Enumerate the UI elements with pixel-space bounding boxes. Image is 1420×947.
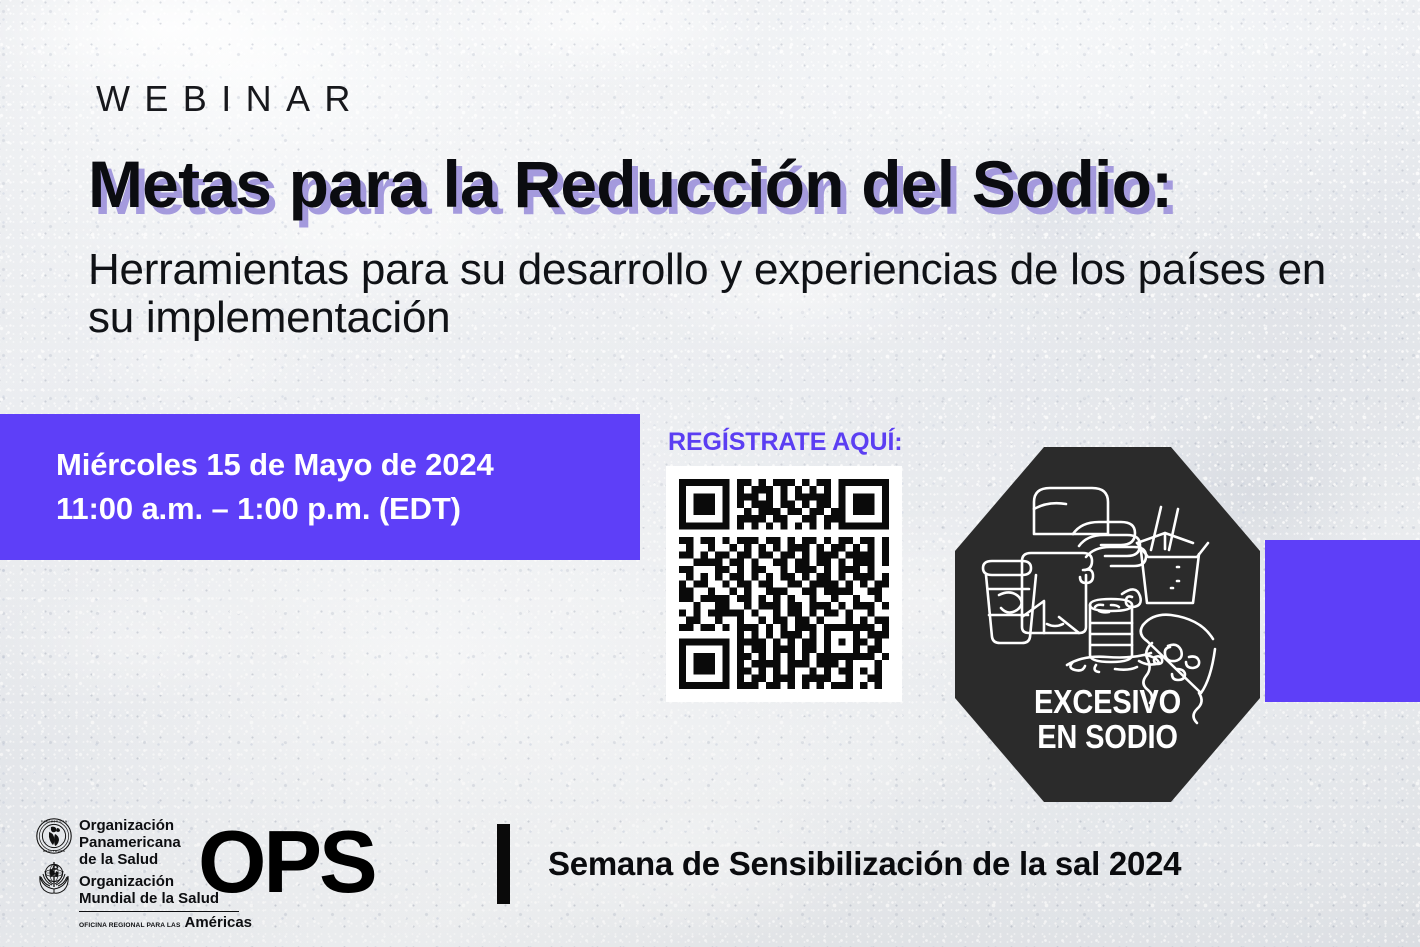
region-name: Américas xyxy=(184,914,252,931)
footer-divider-bar xyxy=(497,824,510,904)
who-emblem-icon xyxy=(36,858,72,894)
page-title: Metas para la Reducción del Sodio: xyxy=(88,146,1172,222)
date-time-banner: Miércoles 15 de Mayo de 2024 11:00 a.m. … xyxy=(0,414,640,560)
footer-tagline: Semana de Sensibilización de la sal 2024 xyxy=(548,845,1181,883)
webinar-date: Miércoles 15 de Mayo de 2024 xyxy=(56,443,640,487)
svg-text:P A N A M E R I C A N: P A N A M E R I C A N xyxy=(41,820,67,824)
kicker-webinar: WEBINAR xyxy=(96,78,365,120)
paho-seal-icon: P A N A M E R I C A N H E A L T H O R G xyxy=(36,818,72,854)
webinar-time: 11:00 a.m. – 1:00 p.m. (EDT) xyxy=(56,487,640,531)
ops-acronym: OPS xyxy=(198,818,375,906)
registration-qr-code[interactable] xyxy=(666,466,902,702)
purple-accent-block xyxy=(1265,540,1420,702)
warning-line-1: EXCESIVO xyxy=(973,685,1241,720)
register-here-label: REGÍSTRATE AQUÍ: xyxy=(668,428,903,457)
warning-line-2: EN SODIO xyxy=(973,720,1241,755)
logo-emblems: P A N A M E R I C A N H E A L T H O R G xyxy=(36,818,72,894)
svg-text:H E A L T H O R G: H E A L T H O R G xyxy=(43,849,65,853)
page-subtitle: Herramientas para su desarrollo y experi… xyxy=(88,246,1328,343)
warning-label-text: EXCESIVO EN SODIO xyxy=(973,685,1241,755)
warning-label-octagon: EXCESIVO EN SODIO xyxy=(955,447,1260,802)
qr-code-icon xyxy=(679,479,889,689)
region-line: OFICINA REGIONAL PARA LAS Américas xyxy=(79,914,252,931)
poster-canvas: WEBINAR Metas para la Reducción del Sodi… xyxy=(0,0,1420,947)
region-prefix: OFICINA REGIONAL PARA LAS xyxy=(79,922,180,929)
